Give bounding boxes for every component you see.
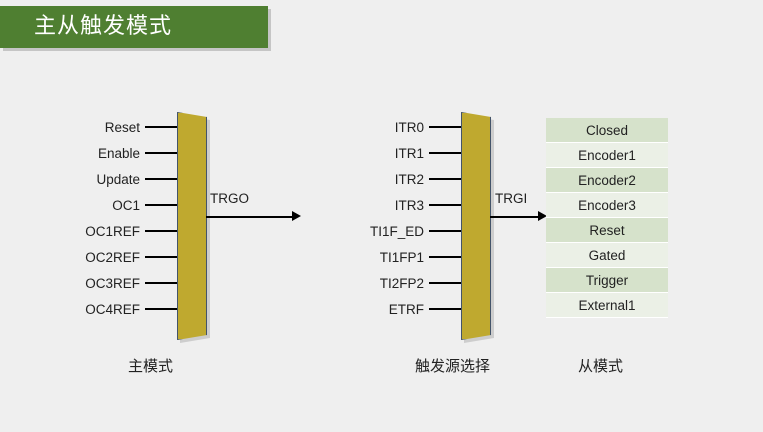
trigger-input-row[interactable]: ETRF <box>346 300 461 318</box>
timer-trigger-diagram: Reset Enable Update OC1 OC1REF OC2REF OC… <box>0 0 763 432</box>
master-input-row[interactable]: OC1REF <box>60 222 177 240</box>
master-input-row[interactable]: Enable <box>60 144 177 162</box>
trigger-input-row[interactable]: ITR0 <box>346 118 461 136</box>
trigger-input-line <box>429 282 461 284</box>
master-input-row[interactable]: OC3REF <box>60 274 177 292</box>
trgi-label: TRGI <box>495 191 527 206</box>
master-input-line <box>145 256 177 258</box>
master-input-label: OC2REF <box>60 250 140 265</box>
trigger-input-row[interactable]: ITR3 <box>346 196 461 214</box>
master-input-label: Enable <box>60 146 140 161</box>
trigger-input-label: ITR1 <box>346 146 424 161</box>
master-input-line <box>145 308 177 310</box>
trgi-arrow: TRGI <box>490 208 548 226</box>
slave-mode-item[interactable]: Encoder3 <box>546 193 668 218</box>
trigger-input-row[interactable]: TI1FP1 <box>346 248 461 266</box>
master-mux-block[interactable] <box>177 112 207 340</box>
slave-mode-item[interactable]: Encoder1 <box>546 143 668 168</box>
trigger-input-label: ITR0 <box>346 120 424 135</box>
slave-mode-item[interactable]: Reset <box>546 218 668 243</box>
master-input-line <box>145 178 177 180</box>
master-input-label: OC4REF <box>60 302 140 317</box>
trigger-mux-block[interactable] <box>461 112 491 340</box>
master-input-label: Reset <box>60 120 140 135</box>
trigger-input-label: ITR2 <box>346 172 424 187</box>
slave-mode-item[interactable]: Trigger <box>546 268 668 293</box>
trgo-arrow: TRGO <box>206 208 302 226</box>
master-input-label: OC1REF <box>60 224 140 239</box>
master-input-line <box>145 282 177 284</box>
trigger-input-label: TI2FP2 <box>346 276 424 291</box>
slave-mode-item[interactable]: Gated <box>546 243 668 268</box>
trgo-arrow-line <box>206 216 292 218</box>
master-input-line <box>145 152 177 154</box>
master-input-label: OC1 <box>60 198 140 213</box>
trigger-input-label: TI1FP1 <box>346 250 424 265</box>
trigger-input-line <box>429 256 461 258</box>
trigger-input-row[interactable]: TI2FP2 <box>346 274 461 292</box>
trgo-arrow-head <box>292 211 301 221</box>
trgi-arrow-line <box>490 216 538 218</box>
slave-mode-item[interactable]: Closed <box>546 118 668 143</box>
master-input-label: Update <box>60 172 140 187</box>
trigger-input-line <box>429 126 461 128</box>
slave-mode-item[interactable]: External1 <box>546 293 668 318</box>
master-input-row[interactable]: OC1 <box>60 196 177 214</box>
trigger-input-label: ETRF <box>346 302 424 317</box>
trigger-input-line <box>429 308 461 310</box>
trigger-input-row[interactable]: TI1F_ED <box>346 222 461 240</box>
master-input-line <box>145 230 177 232</box>
master-input-row[interactable]: Reset <box>60 118 177 136</box>
trigger-input-line <box>429 152 461 154</box>
trigger-input-row[interactable]: ITR2 <box>346 170 461 188</box>
master-mode-caption: 主模式 <box>128 355 173 376</box>
slave-mode-item[interactable]: Encoder2 <box>546 168 668 193</box>
master-input-row[interactable]: OC2REF <box>60 248 177 266</box>
trigger-input-row[interactable]: ITR1 <box>346 144 461 162</box>
trigger-input-line <box>429 230 461 232</box>
trigger-source-caption: 触发源选择 <box>415 355 490 376</box>
trgo-label: TRGO <box>210 191 249 206</box>
master-input-label: OC3REF <box>60 276 140 291</box>
slave-mode-list: Closed Encoder1 Encoder2 Encoder3 Reset … <box>546 118 668 318</box>
master-input-row[interactable]: Update <box>60 170 177 188</box>
trigger-input-line <box>429 204 461 206</box>
master-input-row[interactable]: OC4REF <box>60 300 177 318</box>
trigger-input-label: TI1F_ED <box>346 224 424 239</box>
master-input-line <box>145 126 177 128</box>
slave-mode-caption: 从模式 <box>578 355 623 376</box>
master-input-line <box>145 204 177 206</box>
trigger-input-label: ITR3 <box>346 198 424 213</box>
trigger-input-line <box>429 178 461 180</box>
